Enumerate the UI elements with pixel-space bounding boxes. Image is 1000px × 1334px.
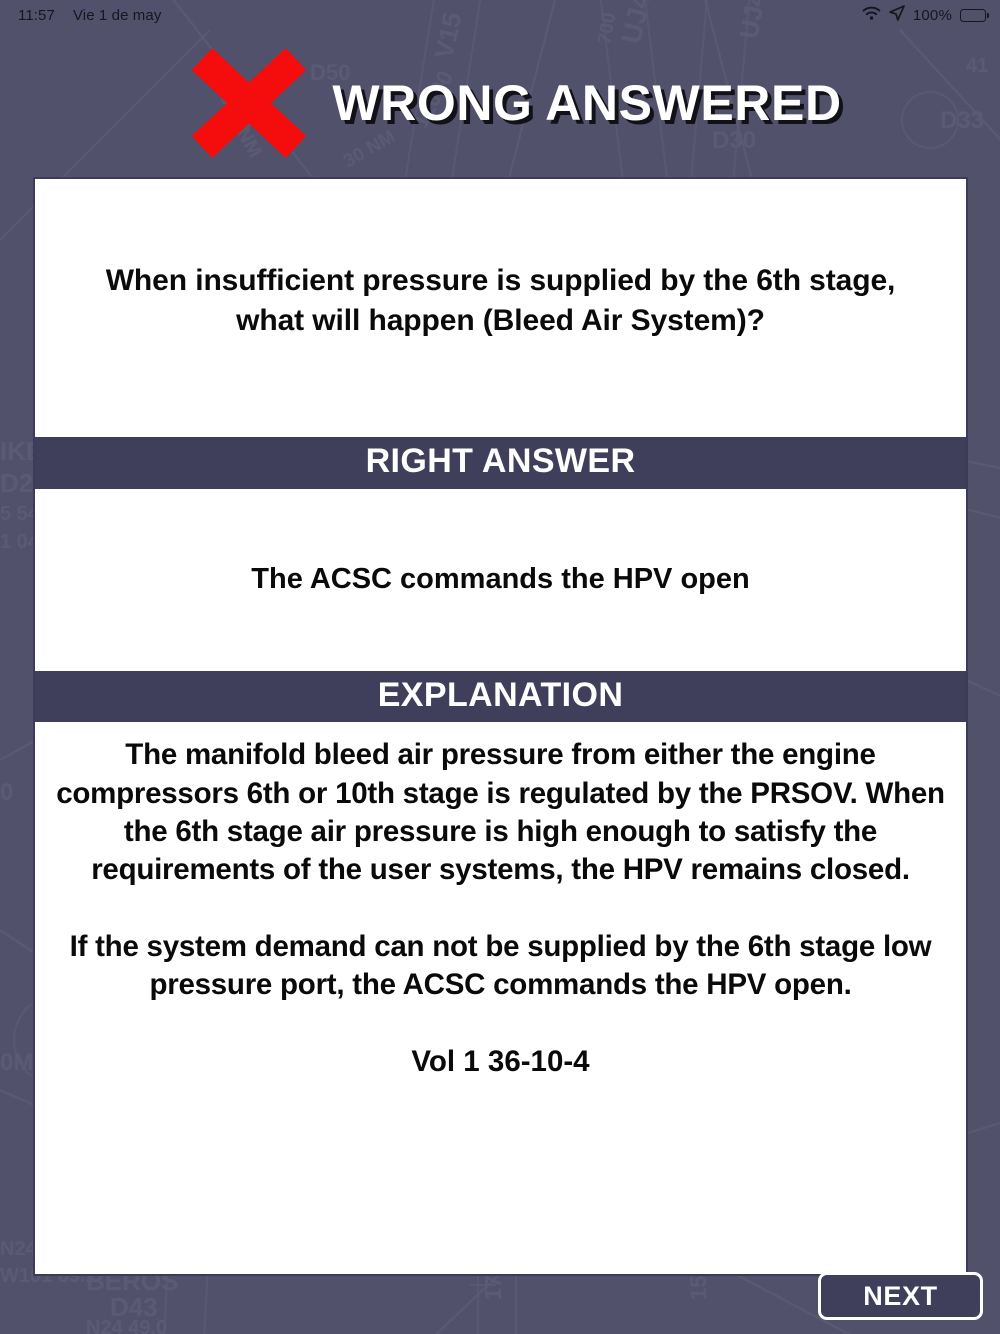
status-time: 11:57 <box>18 7 55 24</box>
explanation-band: EXPLANATION <box>35 671 966 723</box>
next-button[interactable]: NEXT <box>818 1272 983 1320</box>
status-date: Vie 1 de may <box>73 7 161 24</box>
status-bar-left: 11:57 Vie 1 de may <box>18 7 161 24</box>
status-bar-right: 100% <box>862 5 986 25</box>
right-answer-band: RIGHT ANSWER <box>35 437 966 489</box>
explanation-reference: Vol 1 36-10-4 <box>53 1045 948 1079</box>
question-text: When insufficient pressure is supplied b… <box>69 261 932 340</box>
red-x-mark-icon <box>188 49 310 157</box>
explanation-panel: The manifold bleed air pressure from eit… <box>35 722 966 1274</box>
battery-full-icon <box>960 9 986 22</box>
page-title: WRONG ANSWERED <box>332 74 841 132</box>
right-answer-panel: The ACSC commands the HPV open <box>35 489 966 671</box>
result-header: WRONG ANSWERED <box>0 30 1000 175</box>
location-arrow-icon <box>889 5 905 25</box>
battery-percent-label: 100% <box>913 7 952 24</box>
result-card-stack: When insufficient pressure is supplied b… <box>33 177 968 1276</box>
wifi-icon <box>862 6 881 25</box>
right-answer-text: The ACSC commands the HPV open <box>251 561 749 599</box>
explanation-body: The manifold bleed air pressure from eit… <box>53 736 948 1004</box>
status-bar: 11:57 Vie 1 de may 100% <box>0 0 1000 30</box>
question-panel: When insufficient pressure is supplied b… <box>35 179 966 437</box>
